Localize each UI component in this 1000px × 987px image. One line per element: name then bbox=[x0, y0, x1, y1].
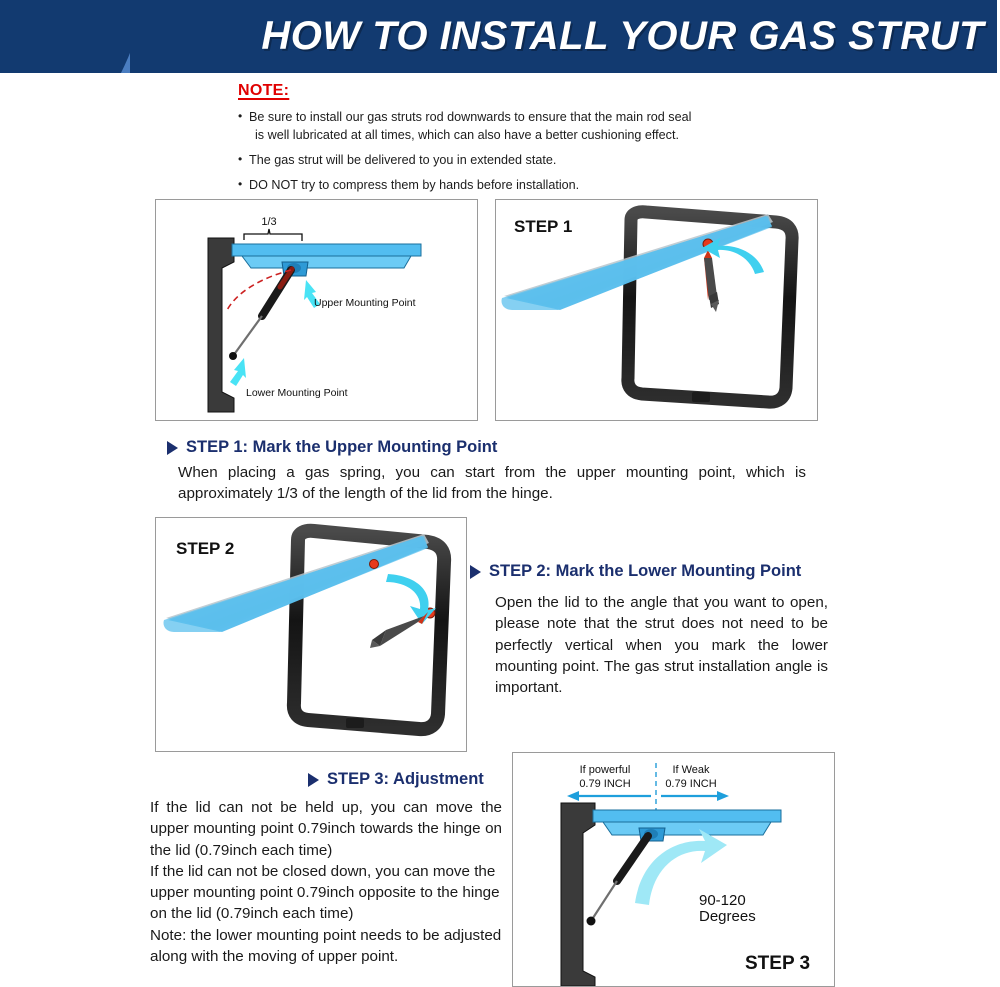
step1-illustration: STEP 1 bbox=[496, 200, 817, 420]
bullet-icon: • bbox=[238, 151, 242, 168]
step1-body: When placing a gas spring, you can start… bbox=[178, 462, 806, 505]
triangle-bullet-icon bbox=[167, 441, 178, 455]
diagram-panel-mounting-points: 1/3 Upper Mounting Point Lower Mounting … bbox=[155, 199, 478, 421]
note-item-line1: The gas strut will be delivered to you i… bbox=[249, 153, 556, 167]
right-dim-title: If Weak bbox=[672, 764, 710, 776]
step3-paragraph-1: If the lid can not be held up, you can m… bbox=[150, 799, 502, 859]
pen-icon bbox=[704, 250, 719, 312]
frame-latch bbox=[692, 392, 710, 402]
right-arrowhead bbox=[717, 791, 729, 801]
cyan-curved-arrow bbox=[386, 574, 436, 624]
note-block: NOTE: • Be sure to install our gas strut… bbox=[238, 82, 938, 202]
bullet-icon: • bbox=[238, 108, 242, 125]
frame-latch bbox=[346, 718, 364, 728]
page-header: HOW TO INSTALL YOUR GAS STRUT bbox=[0, 0, 1000, 73]
upper-mark-dot bbox=[370, 560, 379, 569]
strut-shaft bbox=[591, 881, 617, 921]
step3-paragraph-2: If the lid can not be closed down, you c… bbox=[150, 861, 502, 925]
lower-callout-arrow bbox=[230, 358, 246, 386]
step1-heading-text: STEP 1: Mark the Upper Mounting Point bbox=[186, 438, 497, 457]
lower-pivot bbox=[229, 352, 237, 360]
step1-heading: STEP 1: Mark the Upper Mounting Point bbox=[167, 438, 497, 457]
panel-tag-step2: STEP 2 bbox=[176, 539, 234, 558]
triangle-bullet-icon bbox=[308, 773, 319, 787]
one-third-bracket bbox=[244, 229, 302, 241]
angle-label-line2: Degrees bbox=[699, 908, 756, 925]
diagram-panel-step3: If powerful 0.79 INCH If Weak 0.79 INCH … bbox=[512, 752, 835, 987]
left-dim-value: 0.79 INCH bbox=[579, 778, 630, 790]
step3-schematic: If powerful 0.79 INCH If Weak 0.79 INCH … bbox=[513, 753, 834, 986]
panel-tag-step1: STEP 1 bbox=[514, 217, 572, 236]
step2-heading-text: STEP 2: Mark the Lower Mounting Point bbox=[489, 562, 801, 581]
step3-heading-text: STEP 3: Adjustment bbox=[327, 770, 484, 789]
photo-panel-step2: STEP 2 bbox=[155, 517, 467, 752]
triangle-bullet-icon bbox=[470, 565, 481, 579]
lid-top bbox=[593, 810, 781, 822]
note-title: NOTE: bbox=[238, 82, 938, 100]
note-item: • The gas strut will be delivered to you… bbox=[238, 152, 938, 170]
lower-pivot bbox=[587, 917, 596, 926]
note-list: • Be sure to install our gas struts rod … bbox=[238, 109, 938, 195]
lid-underside bbox=[603, 822, 771, 835]
cabinet-wall bbox=[561, 803, 595, 986]
bullet-icon: • bbox=[238, 176, 242, 193]
upper-label: Upper Mounting Point bbox=[314, 297, 416, 309]
fraction-label: 1/3 bbox=[261, 216, 276, 228]
strut-cylinder bbox=[617, 836, 648, 881]
lid-underside bbox=[242, 256, 411, 268]
note-item-line2: is well lubricated at all times, which c… bbox=[249, 127, 938, 145]
page-title: HOW TO INSTALL YOUR GAS STRUT bbox=[0, 0, 1000, 73]
lid-top bbox=[232, 244, 421, 256]
angle-label-line1: 90-120 bbox=[699, 892, 746, 909]
strut-shaft bbox=[233, 316, 262, 356]
step3-body: If the lid can not be held up, you can m… bbox=[150, 797, 502, 967]
note-item: • Be sure to install our gas struts rod … bbox=[238, 109, 938, 145]
step3-heading: STEP 3: Adjustment bbox=[308, 770, 484, 789]
step3-paragraph-3: Note: the lower mounting point needs to … bbox=[150, 925, 502, 968]
photo-panel-step1: STEP 1 bbox=[495, 199, 818, 421]
note-item-line1: Be sure to install our gas struts rod do… bbox=[249, 110, 691, 124]
panel-tag-step3: STEP 3 bbox=[745, 953, 810, 974]
mounting-point-schematic: 1/3 Upper Mounting Point Lower Mounting … bbox=[156, 200, 477, 420]
note-item-line1: DO NOT try to compress them by hands bef… bbox=[249, 178, 579, 192]
left-dim-title: If powerful bbox=[580, 764, 631, 776]
step2-heading: STEP 2: Mark the Lower Mounting Point bbox=[470, 562, 801, 581]
cabinet-wall bbox=[208, 238, 234, 412]
step2-illustration: STEP 2 bbox=[156, 518, 466, 751]
left-arrowhead bbox=[567, 791, 579, 801]
step2-body: Open the lid to the angle that you want … bbox=[495, 592, 828, 698]
right-dim-value: 0.79 INCH bbox=[665, 778, 716, 790]
lower-label: Lower Mounting Point bbox=[246, 387, 348, 399]
note-item: • DO NOT try to compress them by hands b… bbox=[238, 177, 938, 195]
